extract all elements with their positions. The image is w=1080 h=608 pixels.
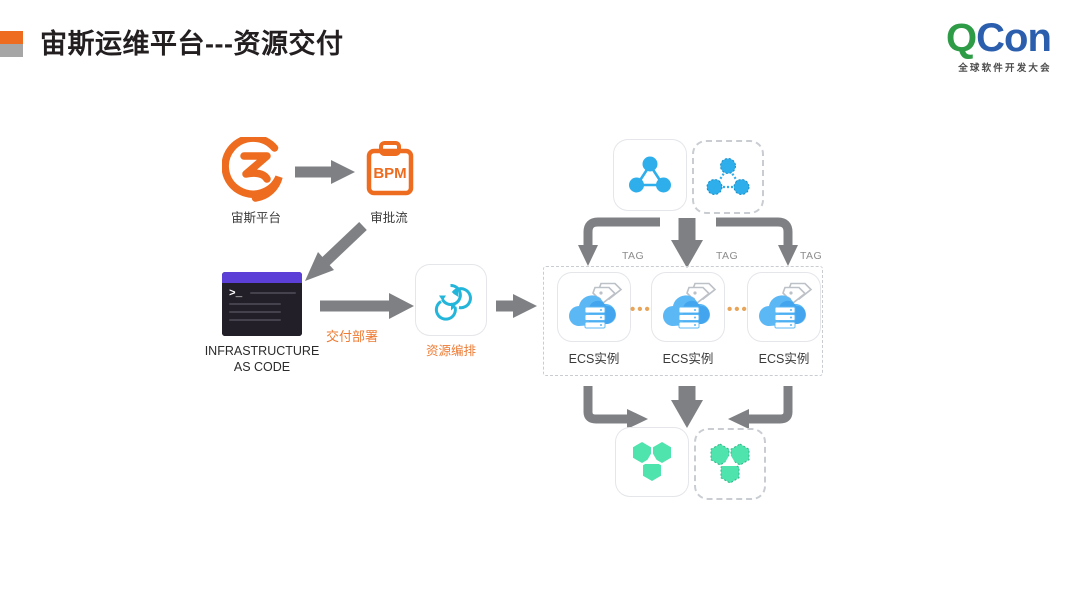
hexagon-cluster-dashed-card	[694, 428, 766, 500]
arrow-iac-to-orchestration	[320, 293, 414, 319]
bpm-label: 审批流	[345, 207, 433, 226]
node-cluster-dashed-icon	[706, 157, 750, 197]
ecs-instance-card[interactable]	[652, 273, 724, 341]
ecs-instance-label: ECS实例	[650, 348, 726, 367]
arrow-ecs-to-hex-right	[728, 386, 788, 429]
terminal-code-line	[229, 311, 281, 313]
slide-root: 宙斯运维平台---资源交付 QCon 全球软件开发大会	[0, 0, 1080, 608]
arrow-ecs-to-hex-left	[588, 386, 648, 429]
deploy-edge-label: 交付部署	[326, 326, 378, 345]
terminal-code-line	[229, 319, 281, 321]
ecs-instance-card[interactable]	[558, 273, 630, 341]
cloud-server-icon	[755, 282, 813, 332]
terminal-body: >_	[222, 283, 302, 336]
node-cluster-icon	[628, 155, 672, 195]
hexagon-cluster-card	[616, 428, 688, 496]
arrow-bpm-to-iac	[305, 226, 363, 281]
arrow-cluster-to-ecs-left	[578, 222, 660, 266]
arrow-ecs-to-hex-center	[671, 386, 703, 428]
iac-label: INFRASTRUCTURE AS CODE	[196, 343, 328, 375]
tag-label: TAG	[716, 250, 738, 262]
terminal-code-line	[229, 303, 281, 305]
resource-orchestration-label: 资源编排	[406, 340, 496, 359]
terminal-icon: >_	[222, 272, 302, 336]
resource-orchestration-card	[416, 265, 486, 335]
terminal-titlebar	[222, 272, 302, 283]
tag-label: TAG	[622, 250, 644, 262]
bpm-icon-wrap: BPM	[365, 141, 415, 199]
node-cluster-dashed-card	[692, 140, 764, 214]
node-cluster-card	[614, 140, 686, 210]
ecs-separator-dots: •••	[630, 302, 652, 317]
cloud-server-icon	[565, 282, 623, 332]
ecs-instance-label: ECS实例	[746, 348, 822, 367]
svg-text:BPM: BPM	[373, 165, 406, 182]
arrow-zeus-to-bpm	[295, 160, 355, 184]
arrow-orchestration-to-ecs	[496, 294, 537, 318]
ecs-separator-dots: •••	[727, 302, 749, 317]
bpm-clipboard-icon: BPM	[365, 141, 415, 199]
diagram-arrows-layer	[0, 0, 1080, 608]
resource-orchestration-icon	[427, 277, 475, 323]
zeus-platform-icon-wrap	[222, 137, 289, 203]
hexagon-cluster-icon	[628, 439, 676, 485]
arrow-cluster-to-ecs-center	[671, 218, 703, 268]
hexagon-cluster-dashed-icon	[706, 441, 754, 487]
cloud-server-icon	[659, 282, 717, 332]
zeus-platform-label: 宙斯平台	[212, 207, 300, 226]
ecs-instance-label: ECS实例	[556, 348, 632, 367]
terminal-prompt: >_	[229, 289, 295, 300]
terminal-code-line	[250, 292, 296, 294]
tag-label: TAG	[800, 250, 822, 262]
ecs-instance-card[interactable]	[748, 273, 820, 341]
zeus-logo-icon	[222, 137, 289, 203]
